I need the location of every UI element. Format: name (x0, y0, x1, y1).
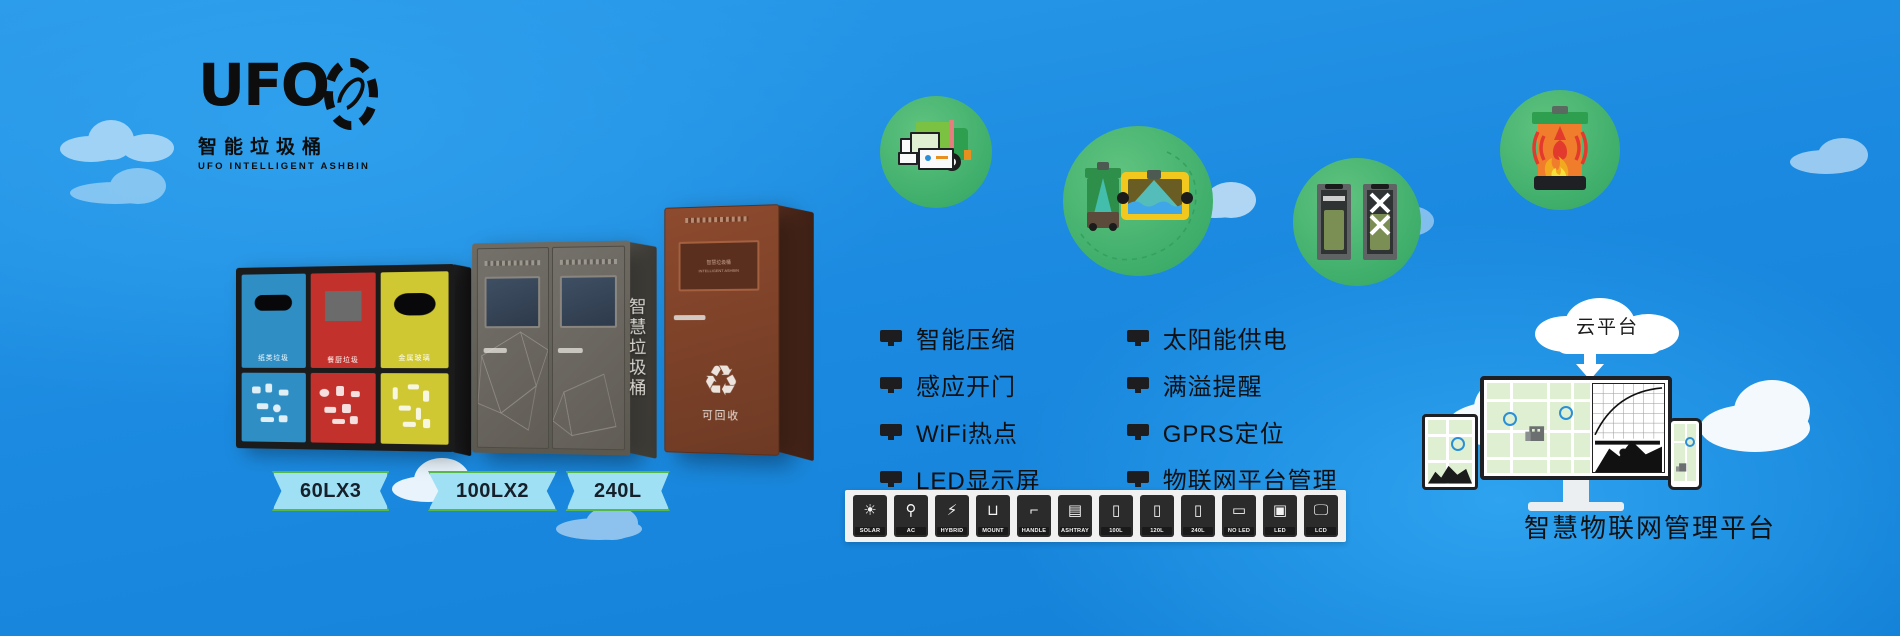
bin-door (551, 246, 625, 451)
spec-chip-label: 100L (1101, 527, 1131, 535)
spec-chip-label: 240L (1183, 527, 1213, 535)
feature-label: WiFi热点 (916, 414, 1018, 449)
facet-pattern-icon (477, 320, 549, 440)
brand-logo: UFO 智能垃圾桶 UFO INTELLIGENT ASHBIN (198, 58, 378, 158)
feature-item: 满溢提醒 (1127, 367, 1338, 402)
feature-label: GPRS定位 (1163, 414, 1285, 449)
facet-pattern-icon (551, 320, 625, 442)
dashboard-map (1487, 383, 1590, 473)
feature-item: 太阳能供电 (1127, 320, 1338, 355)
lcd-icon: 🖵 (1304, 495, 1338, 526)
banner-stage: UFO 智能垃圾桶 UFO INTELLIGENT ASHBIN 纸类垃圾 (0, 0, 1900, 636)
bin-compartment: 金属玻璃 (381, 271, 449, 445)
bin-240l-icon: ▯ (1181, 495, 1215, 526)
feature-circle-waste-compaction (1293, 158, 1421, 286)
bin-compartment: 纸类垃圾 (242, 274, 306, 443)
bin-screen-line2: INTELLIGENT ASHBIN (699, 268, 739, 274)
no-led-icon: ▭ (1222, 495, 1256, 526)
monitor-bullet-icon (880, 377, 902, 393)
iot-platform-illustration: 云平台 (1440, 296, 1860, 548)
recycle-label: 可回收 (665, 406, 778, 424)
capacity-badge-60lx3: 60LX3 (272, 471, 389, 511)
feature-column-left: 智能压缩 感应开门 WiFi热点 LED显示屏 (880, 320, 1041, 496)
spec-chip-label: AC (896, 527, 926, 535)
bin-100l-icon: ▯ (1099, 495, 1133, 526)
handle-icon: ⌐ (1017, 495, 1051, 526)
spec-chip-label: HANDLE (1019, 527, 1049, 535)
bin-door (477, 247, 549, 449)
spec-chip-label: NO LED (1224, 527, 1254, 535)
desktop-monitor (1480, 376, 1672, 511)
spec-chip-led: ▣ LED (1263, 495, 1297, 537)
product-three-compartment-bin: 纸类垃圾 餐厨垃圾 金属玻璃 (236, 264, 455, 452)
compartment-label: 金属玻璃 (381, 353, 449, 363)
cloud-platform-label: 云平台 (1535, 312, 1680, 339)
spec-chip-240l: ▯ 240L (1181, 495, 1215, 537)
bin-compartment: 餐厨垃圾 (310, 272, 376, 443)
compartment-label: 纸类垃圾 (242, 353, 306, 363)
dashboard-chart (1592, 383, 1665, 473)
fill-level-sensor-icon (1063, 126, 1213, 276)
spec-chip-label: SOLAR (855, 527, 885, 535)
spec-icon-strip: ☀ SOLAR ⚲ AC ⚡ HYBRID ⊔ MOUNT ⌐ HANDLE ▤… (845, 490, 1346, 542)
monitor-bullet-icon (880, 330, 902, 346)
feature-column-right: 太阳能供电 满溢提醒 GPRS定位 物联网平台管理 (1127, 320, 1338, 496)
feature-label: 太阳能供电 (1163, 320, 1288, 355)
compaction-icon (1293, 158, 1421, 286)
logo-mark: UFO (198, 58, 378, 130)
building-icon (1524, 417, 1551, 448)
ashtray-icon: ▤ (1058, 495, 1092, 526)
spec-chip-label: HYBRID (937, 527, 967, 535)
capacity-badge-100lx2: 100LX2 (428, 471, 557, 511)
product-dual-smart-bin: 智慧垃圾桶 (472, 241, 630, 456)
capacity-badge-240l: 240L (566, 471, 670, 511)
feature-item: 感应开门 (880, 367, 1041, 402)
ac-plug-icon: ⚲ (894, 495, 928, 526)
solar-icon: ☀ (853, 495, 887, 526)
compartment-label: 餐厨垃圾 (310, 355, 376, 365)
bin-screen: 智慧垃圾桶 INTELLIGENT ASHBIN (679, 241, 760, 291)
bin-body-text: 智慧垃圾桶 (626, 297, 648, 399)
platform-caption: 智慧物联网管理平台 (1440, 508, 1860, 545)
led-icon: ▣ (1263, 495, 1297, 526)
recycle-icon: ♻ (699, 358, 744, 405)
spec-chip-label: 120L (1142, 527, 1172, 535)
monitor-bullet-icon (1127, 377, 1149, 393)
map-preview (1428, 420, 1472, 484)
fire-alarm-icon (1500, 90, 1620, 210)
spec-chip-label: LED (1265, 527, 1295, 535)
bin-screen-line1: 智慧垃圾桶 (707, 259, 731, 266)
map-preview (1674, 424, 1696, 481)
spec-chip-120l: ▯ 120L (1140, 495, 1174, 537)
feature-label: 感应开门 (916, 367, 1016, 402)
monitor-bullet-icon (1127, 424, 1149, 440)
spec-chip-label: ASHTRAY (1060, 527, 1090, 535)
monitor-bullet-icon (880, 424, 902, 440)
hybrid-icon: ⚡ (935, 495, 969, 526)
feature-item: WiFi热点 (880, 414, 1041, 449)
feature-label: 智能压缩 (916, 320, 1016, 355)
spec-chip-mount: ⊔ MOUNT (976, 495, 1010, 537)
product-single-recycle-bin: 智慧垃圾桶 INTELLIGENT ASHBIN ♻ 可回收 (664, 204, 779, 456)
bin-120l-icon: ▯ (1140, 495, 1174, 526)
mobile-phone-device (1668, 418, 1702, 490)
monitor-bullet-icon (1127, 471, 1149, 487)
spec-chip-ac: ⚲ AC (894, 495, 928, 537)
mount-icon: ⊔ (976, 495, 1010, 526)
spec-chip-ashtray: ▤ ASHTRAY (1058, 495, 1092, 537)
feature-label: 满溢提醒 (1163, 367, 1263, 402)
spec-chip-no-led: ▭ NO LED (1222, 495, 1256, 537)
spec-chip-handle: ⌐ HANDLE (1017, 495, 1051, 537)
cloud-platform-badge: 云平台 (1535, 296, 1680, 354)
tablet-device (1422, 414, 1478, 490)
chart-preview (1428, 461, 1472, 484)
logo-english-name: UFO INTELLIGENT ASHBIN (198, 161, 378, 172)
feature-circle-fill-level-sensing (1063, 126, 1213, 276)
logo-wordmark: UFO (198, 58, 328, 113)
monitor-bullet-icon (1127, 330, 1149, 346)
spec-chip-lcd: 🖵 LCD (1304, 495, 1338, 537)
spec-chip-hybrid: ⚡ HYBRID (935, 495, 969, 537)
feature-list: 智能压缩 感应开门 WiFi热点 LED显示屏 太阳能供电 满溢提醒 GPRS定… (880, 320, 1338, 496)
building-icon (1676, 455, 1691, 478)
spec-chip-label: LCD (1306, 527, 1336, 535)
logo-chinese-name: 智能垃圾桶 (198, 132, 378, 159)
logo-ring-icon (324, 58, 378, 130)
spec-chip-100l: ▯ 100L (1099, 495, 1133, 537)
feature-circle-fire-alarm-detection (1500, 90, 1620, 210)
feature-item: GPRS定位 (1127, 414, 1338, 449)
spec-chip-label: MOUNT (978, 527, 1008, 535)
spec-chip-solar: ☀ SOLAR (853, 495, 887, 537)
feature-item: 智能压缩 (880, 320, 1041, 355)
monitor-bullet-icon (880, 471, 902, 487)
feature-circle-fleet-monitoring (880, 96, 992, 208)
garbage-truck-icon (880, 96, 992, 208)
